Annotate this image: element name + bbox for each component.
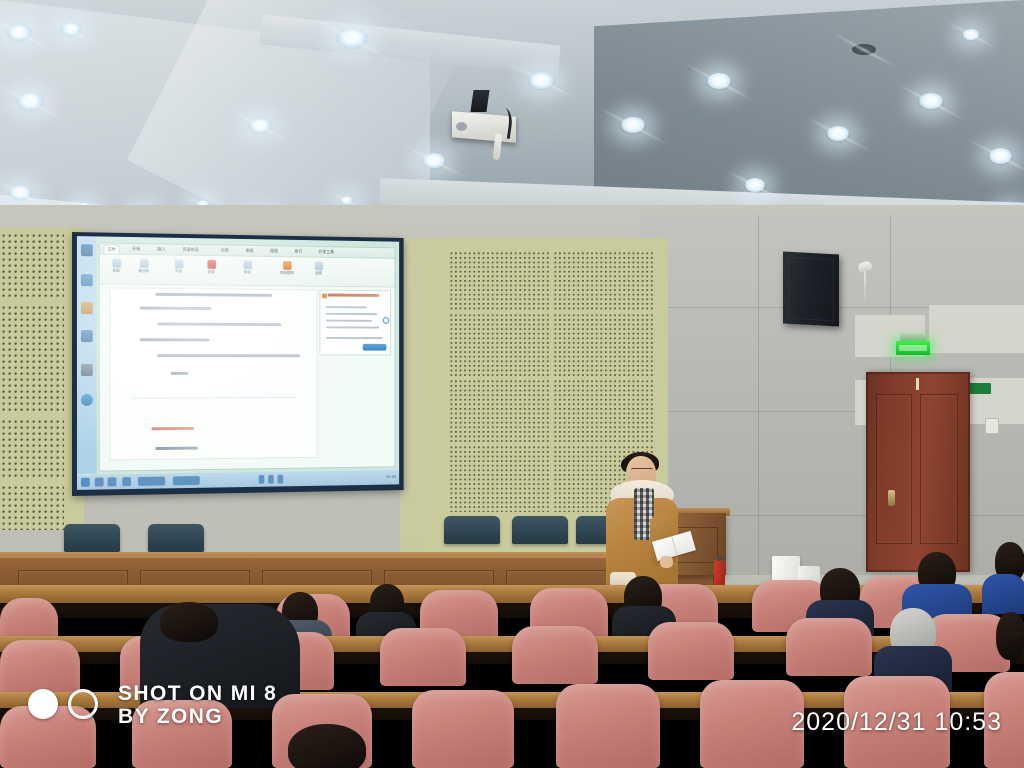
ceiling-light [16, 92, 44, 111]
ceiling-projector [452, 106, 522, 148]
exit-sign-housing [900, 332, 926, 341]
ceiling-light [620, 117, 646, 134]
stage-chair[interactable] [148, 524, 204, 552]
fire-extinguisher [714, 560, 725, 586]
wall-vent-panel [929, 305, 1024, 353]
process-now-button[interactable] [363, 344, 387, 351]
glasses-icon [631, 468, 653, 474]
glasses-icon [1010, 632, 1022, 634]
acoustic-panel [2, 420, 64, 480]
ribbon-tab[interactable]: 引用 [218, 246, 232, 255]
ceiling-light [706, 73, 732, 90]
photo-timestamp: 2020/12/31 10:53 [791, 708, 1002, 737]
seat[interactable] [412, 690, 514, 768]
find-replace-icon[interactable] [283, 261, 291, 270]
wall-speaker [783, 252, 839, 327]
logo-filled-circle [28, 689, 58, 719]
conference-hall-photo: 文件 开始 插入 页面布局 引用 审阅 视图 章节 开发工具 粘贴 [0, 0, 1024, 768]
wps-writer-window[interactable]: 文件 开始 插入 页面布局 引用 审阅 视图 章节 开发工具 粘贴 [99, 242, 396, 471]
desktop-icon[interactable] [81, 244, 93, 256]
ceiling-light [826, 126, 850, 142]
taskbar-icon[interactable] [122, 477, 131, 486]
desktop-icon[interactable] [81, 330, 93, 342]
projected-desktop: 文件 开始 插入 页面布局 引用 审阅 视图 章节 开发工具 粘贴 [77, 236, 399, 490]
door-handle[interactable] [888, 490, 895, 506]
stage-chair[interactable] [444, 516, 500, 544]
ceiling-light [744, 178, 766, 193]
taskbar-window-button[interactable] [173, 476, 200, 485]
seat[interactable] [512, 626, 598, 684]
select-icon[interactable] [314, 262, 322, 271]
glasses-icon [1008, 558, 1020, 560]
ribbon-tab[interactable]: 审阅 [243, 247, 257, 256]
desktop-icon[interactable] [81, 364, 93, 376]
attendee-head [160, 602, 218, 642]
ribbon-tab[interactable]: 页面布局 [180, 246, 202, 255]
seat[interactable] [380, 628, 466, 686]
attendee-body [982, 574, 1024, 614]
seat[interactable] [700, 680, 804, 768]
ceiling-light [248, 118, 272, 134]
emergency-exit-sign [896, 341, 930, 355]
acoustic-panel [554, 314, 654, 376]
highlight-icon[interactable] [207, 260, 216, 269]
ceiling-light [336, 28, 368, 49]
taskbar-icon[interactable] [108, 477, 117, 486]
door-top-marker [916, 378, 919, 390]
logo-ring-circle [68, 689, 98, 719]
acoustic-panel [450, 446, 550, 512]
warning-icon [322, 293, 327, 298]
ribbon-tab[interactable]: 文件 [104, 245, 120, 254]
projector-lens [456, 122, 467, 131]
ribbon-toolbar[interactable]: 粘贴 格式刷 字体 段落 [100, 254, 395, 287]
seat[interactable] [648, 622, 734, 680]
projector-mount-pole [470, 90, 489, 112]
ceiling-light [528, 72, 555, 90]
acoustic-panel [450, 252, 550, 310]
ceiling-light [60, 22, 82, 37]
style-icon[interactable] [243, 260, 252, 269]
ribbon-group[interactable]: 样式 [237, 260, 258, 275]
projection-screen: 文件 开始 插入 页面布局 引用 审阅 视图 章节 开发工具 粘贴 [72, 232, 404, 496]
start-button[interactable] [81, 478, 90, 487]
taskbar-icon[interactable] [95, 478, 104, 487]
acoustic-panel [450, 314, 550, 376]
ribbon-group[interactable]: 选择 [308, 261, 328, 276]
taskbar-window-button[interactable] [138, 477, 165, 486]
tray-icon[interactable] [268, 475, 274, 484]
taskbar[interactable]: 10:53 [77, 470, 399, 490]
desktop-icon-column [77, 236, 97, 474]
tray-icon[interactable] [277, 475, 283, 484]
seat[interactable] [556, 684, 660, 768]
entry-door[interactable] [866, 372, 970, 572]
desktop-icon[interactable] [81, 394, 93, 406]
ceiling-light [422, 153, 446, 169]
ceiling-light [962, 29, 980, 41]
taskbar-clock[interactable]: 10:53 [386, 474, 396, 479]
watermark-line-1: SHOT ON MI 8 [118, 683, 277, 706]
acoustic-panel [554, 380, 654, 442]
stage-chair[interactable] [64, 524, 120, 552]
attendee-head [288, 724, 366, 768]
ceiling-vent [852, 44, 876, 55]
camera-watermark-text: SHOT ON MI 8 BY ZONG [118, 683, 277, 728]
document-proofreading-pane[interactable] [319, 290, 391, 356]
security-camera-mount [864, 268, 866, 302]
ceiling-light [340, 196, 353, 205]
font-icon[interactable] [174, 259, 183, 268]
ribbon-group[interactable]: 格式刷 [131, 259, 156, 274]
attendee-head [996, 612, 1024, 660]
desktop-icon[interactable] [81, 274, 93, 286]
ceiling-light [6, 24, 32, 42]
help-circle-icon[interactable] [383, 317, 389, 324]
camera-watermark-logo [28, 689, 98, 719]
ceiling-light [8, 185, 32, 201]
format-painter-icon[interactable] [139, 259, 148, 268]
ribbon-tab[interactable]: 章节 [292, 248, 305, 257]
pane-title-bar [328, 294, 379, 298]
ribbon-group[interactable]: 查找替换 [273, 261, 301, 276]
watermark-line-2: BY ZONG [118, 706, 277, 729]
ceiling-light [988, 148, 1013, 165]
ribbon-group[interactable]: 字体 [168, 259, 189, 274]
ribbon-group[interactable]: 粘贴 [106, 258, 128, 273]
desktop-icon[interactable] [81, 302, 93, 314]
ribbon-tab[interactable]: 视图 [267, 247, 281, 256]
ribbon-tab[interactable]: 开发工具 [316, 248, 337, 257]
ribbon-tab[interactable]: 开始 [129, 245, 143, 254]
stage-chair[interactable] [512, 516, 568, 544]
document-revision-mark [152, 427, 194, 431]
ceiling-light [918, 93, 944, 110]
acoustic-panel [2, 234, 64, 300]
document-canvas[interactable] [110, 287, 318, 460]
acoustic-panel [2, 486, 64, 530]
acoustic-panel [554, 252, 654, 310]
presenter-hand [660, 556, 673, 568]
tray-icon[interactable] [259, 475, 265, 484]
seat[interactable] [786, 618, 872, 676]
light-switch-plate[interactable] [985, 418, 999, 434]
acoustic-panel [2, 306, 64, 414]
ribbon-tab[interactable]: 插入 [154, 245, 168, 254]
paste-icon[interactable] [112, 259, 121, 268]
ribbon-group[interactable]: 段落 [201, 260, 222, 275]
wall-olive-strip [400, 238, 426, 558]
acoustic-panel [450, 380, 550, 442]
